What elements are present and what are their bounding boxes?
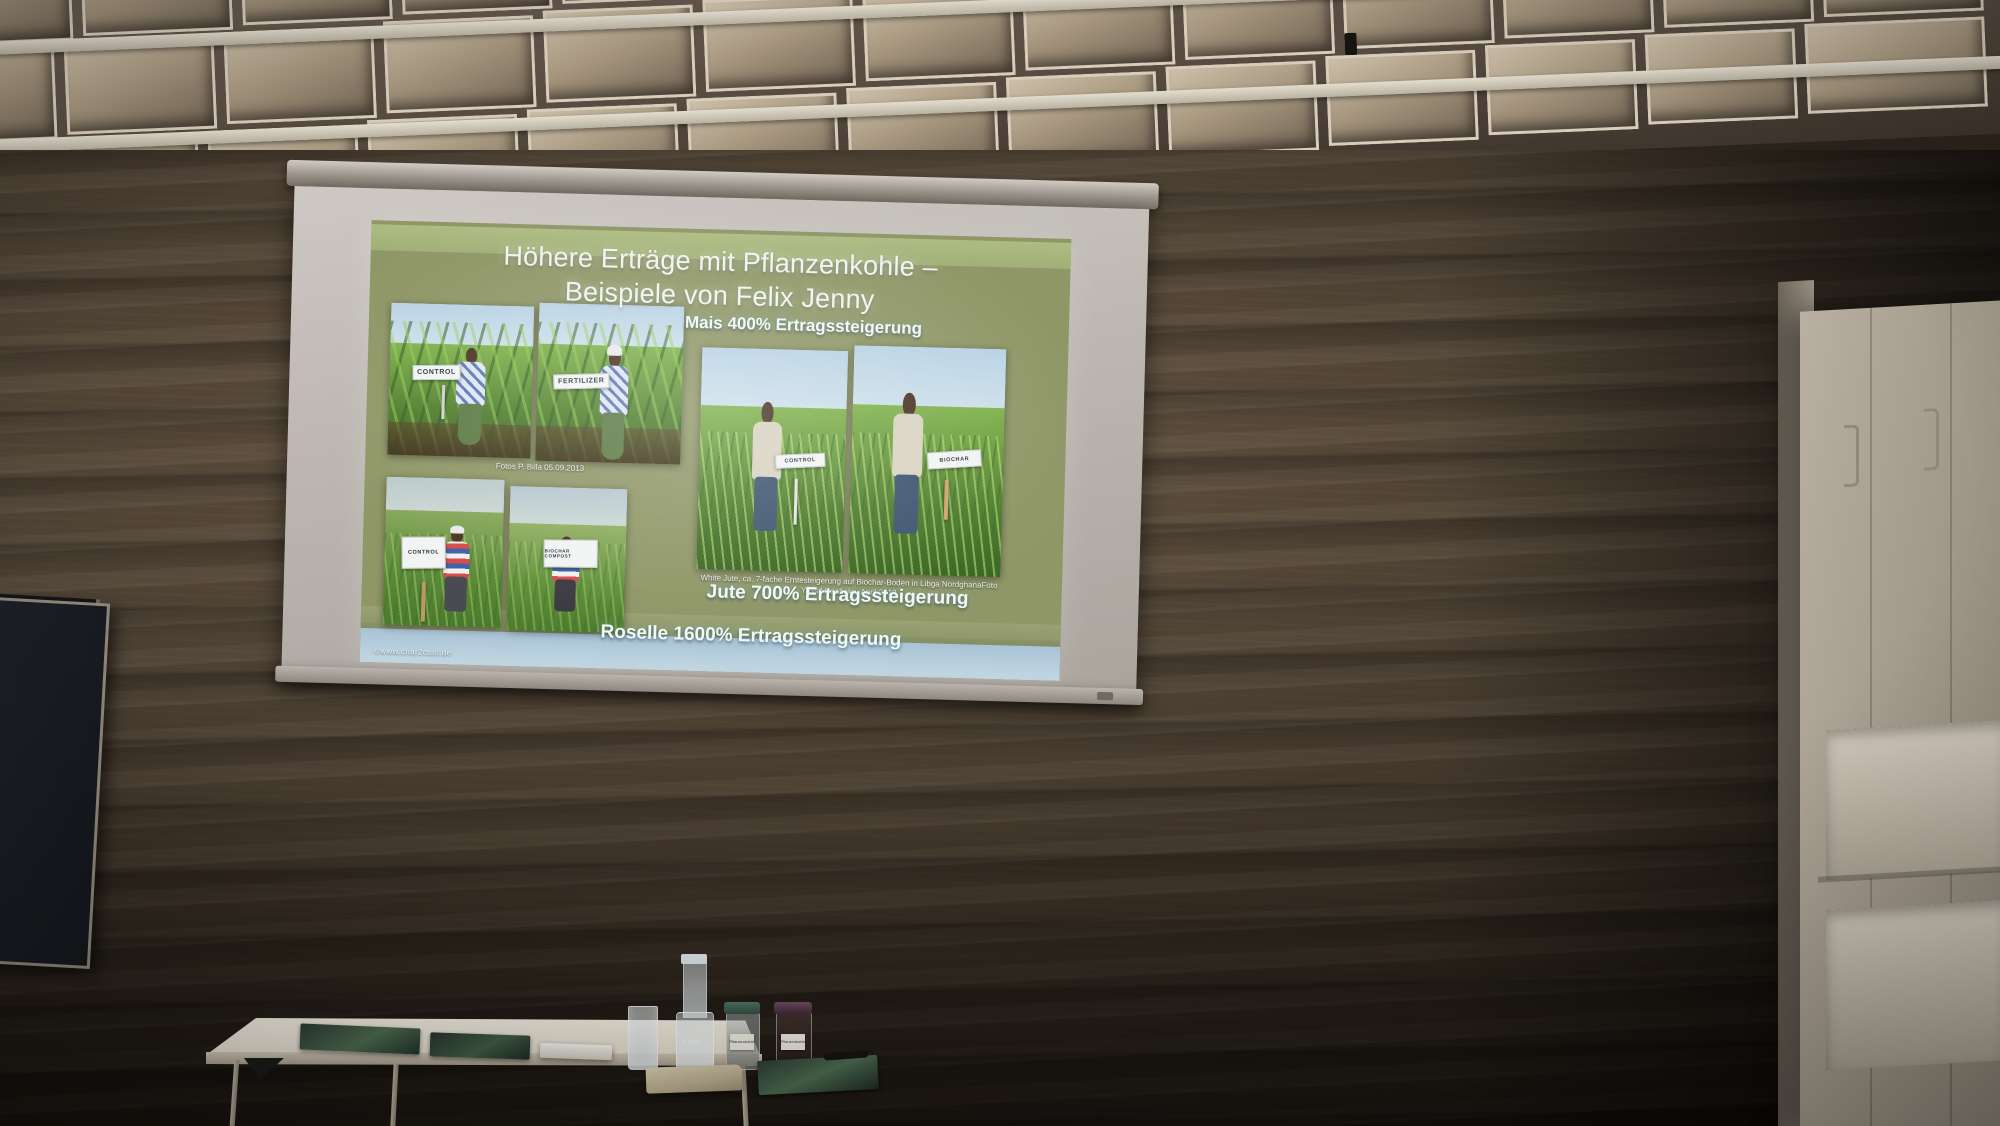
person-in-field bbox=[593, 348, 634, 460]
presentation-slide: Höhere Erträge mit Pflanzenkohle – Beisp… bbox=[360, 220, 1072, 681]
wall-shadow-bottom bbox=[0, 796, 2000, 1126]
person-in-field bbox=[450, 347, 490, 445]
cabinet-niche bbox=[1826, 720, 2000, 880]
water-bottle-neck bbox=[683, 962, 707, 1018]
paper-bag[interactable] bbox=[646, 1064, 743, 1093]
photo-jute-control: CONTROL bbox=[696, 347, 848, 573]
field-sign-control: CONTROL bbox=[775, 453, 826, 469]
cabinet-handle-icon[interactable] bbox=[1844, 424, 1859, 487]
projection-screen: Höhere Erträge mit Pflanzenkohle – Beisp… bbox=[281, 168, 1150, 711]
sample-jar-left-lid[interactable] bbox=[724, 1002, 760, 1014]
screen-pull-knob[interactable] bbox=[1097, 692, 1113, 700]
brochure-stack-right[interactable] bbox=[430, 1032, 531, 1059]
photo-maize-fertilizer: FERTILIZER bbox=[535, 303, 684, 465]
field-sign-biochar-compost: BIOCHAR COMPOST bbox=[544, 539, 598, 568]
person-in-field bbox=[886, 392, 929, 534]
water-bottle-label: swa bbox=[682, 1036, 701, 1046]
name-card[interactable] bbox=[540, 1043, 612, 1061]
wooden-cabinet[interactable] bbox=[1800, 300, 2000, 1126]
booklet-pile[interactable] bbox=[757, 1055, 879, 1095]
photo-maize-control: CONTROL bbox=[387, 303, 534, 459]
sample-jar-left-label: Pflanzenkohle bbox=[730, 1034, 754, 1050]
ceiling-sensor-icon bbox=[1344, 33, 1357, 55]
photo-roselle-biochar-compost: BIOCHAR COMPOST bbox=[507, 486, 628, 633]
field-sign-fertilizer: FERTILIZER bbox=[553, 373, 609, 389]
brochure-stack-left[interactable] bbox=[299, 1023, 420, 1054]
cabinet-handle-icon[interactable] bbox=[1924, 408, 1939, 471]
photo-scene: Höhere Erträge mit Pflanzenkohle – Beisp… bbox=[0, 0, 2000, 1126]
sample-jar-right-lid[interactable] bbox=[774, 1002, 812, 1014]
field-sign-control: CONTROL bbox=[412, 365, 460, 380]
photo-roselle-control: CONTROL bbox=[383, 477, 505, 628]
screen-surface: Höhere Erträge mit Pflanzenkohle – Beisp… bbox=[281, 186, 1149, 699]
field-sign-control: CONTROL bbox=[401, 537, 445, 569]
sample-jar-right-label: Pflanzenkohle bbox=[781, 1034, 805, 1050]
water-glass[interactable] bbox=[628, 1006, 658, 1070]
water-bottle-cap[interactable] bbox=[681, 954, 707, 964]
photo-jute-biochar: BIOCHAR bbox=[848, 345, 1006, 577]
cabinet-niche bbox=[1826, 900, 2000, 1070]
field-sign-biochar: BIOCHAR bbox=[927, 449, 982, 469]
